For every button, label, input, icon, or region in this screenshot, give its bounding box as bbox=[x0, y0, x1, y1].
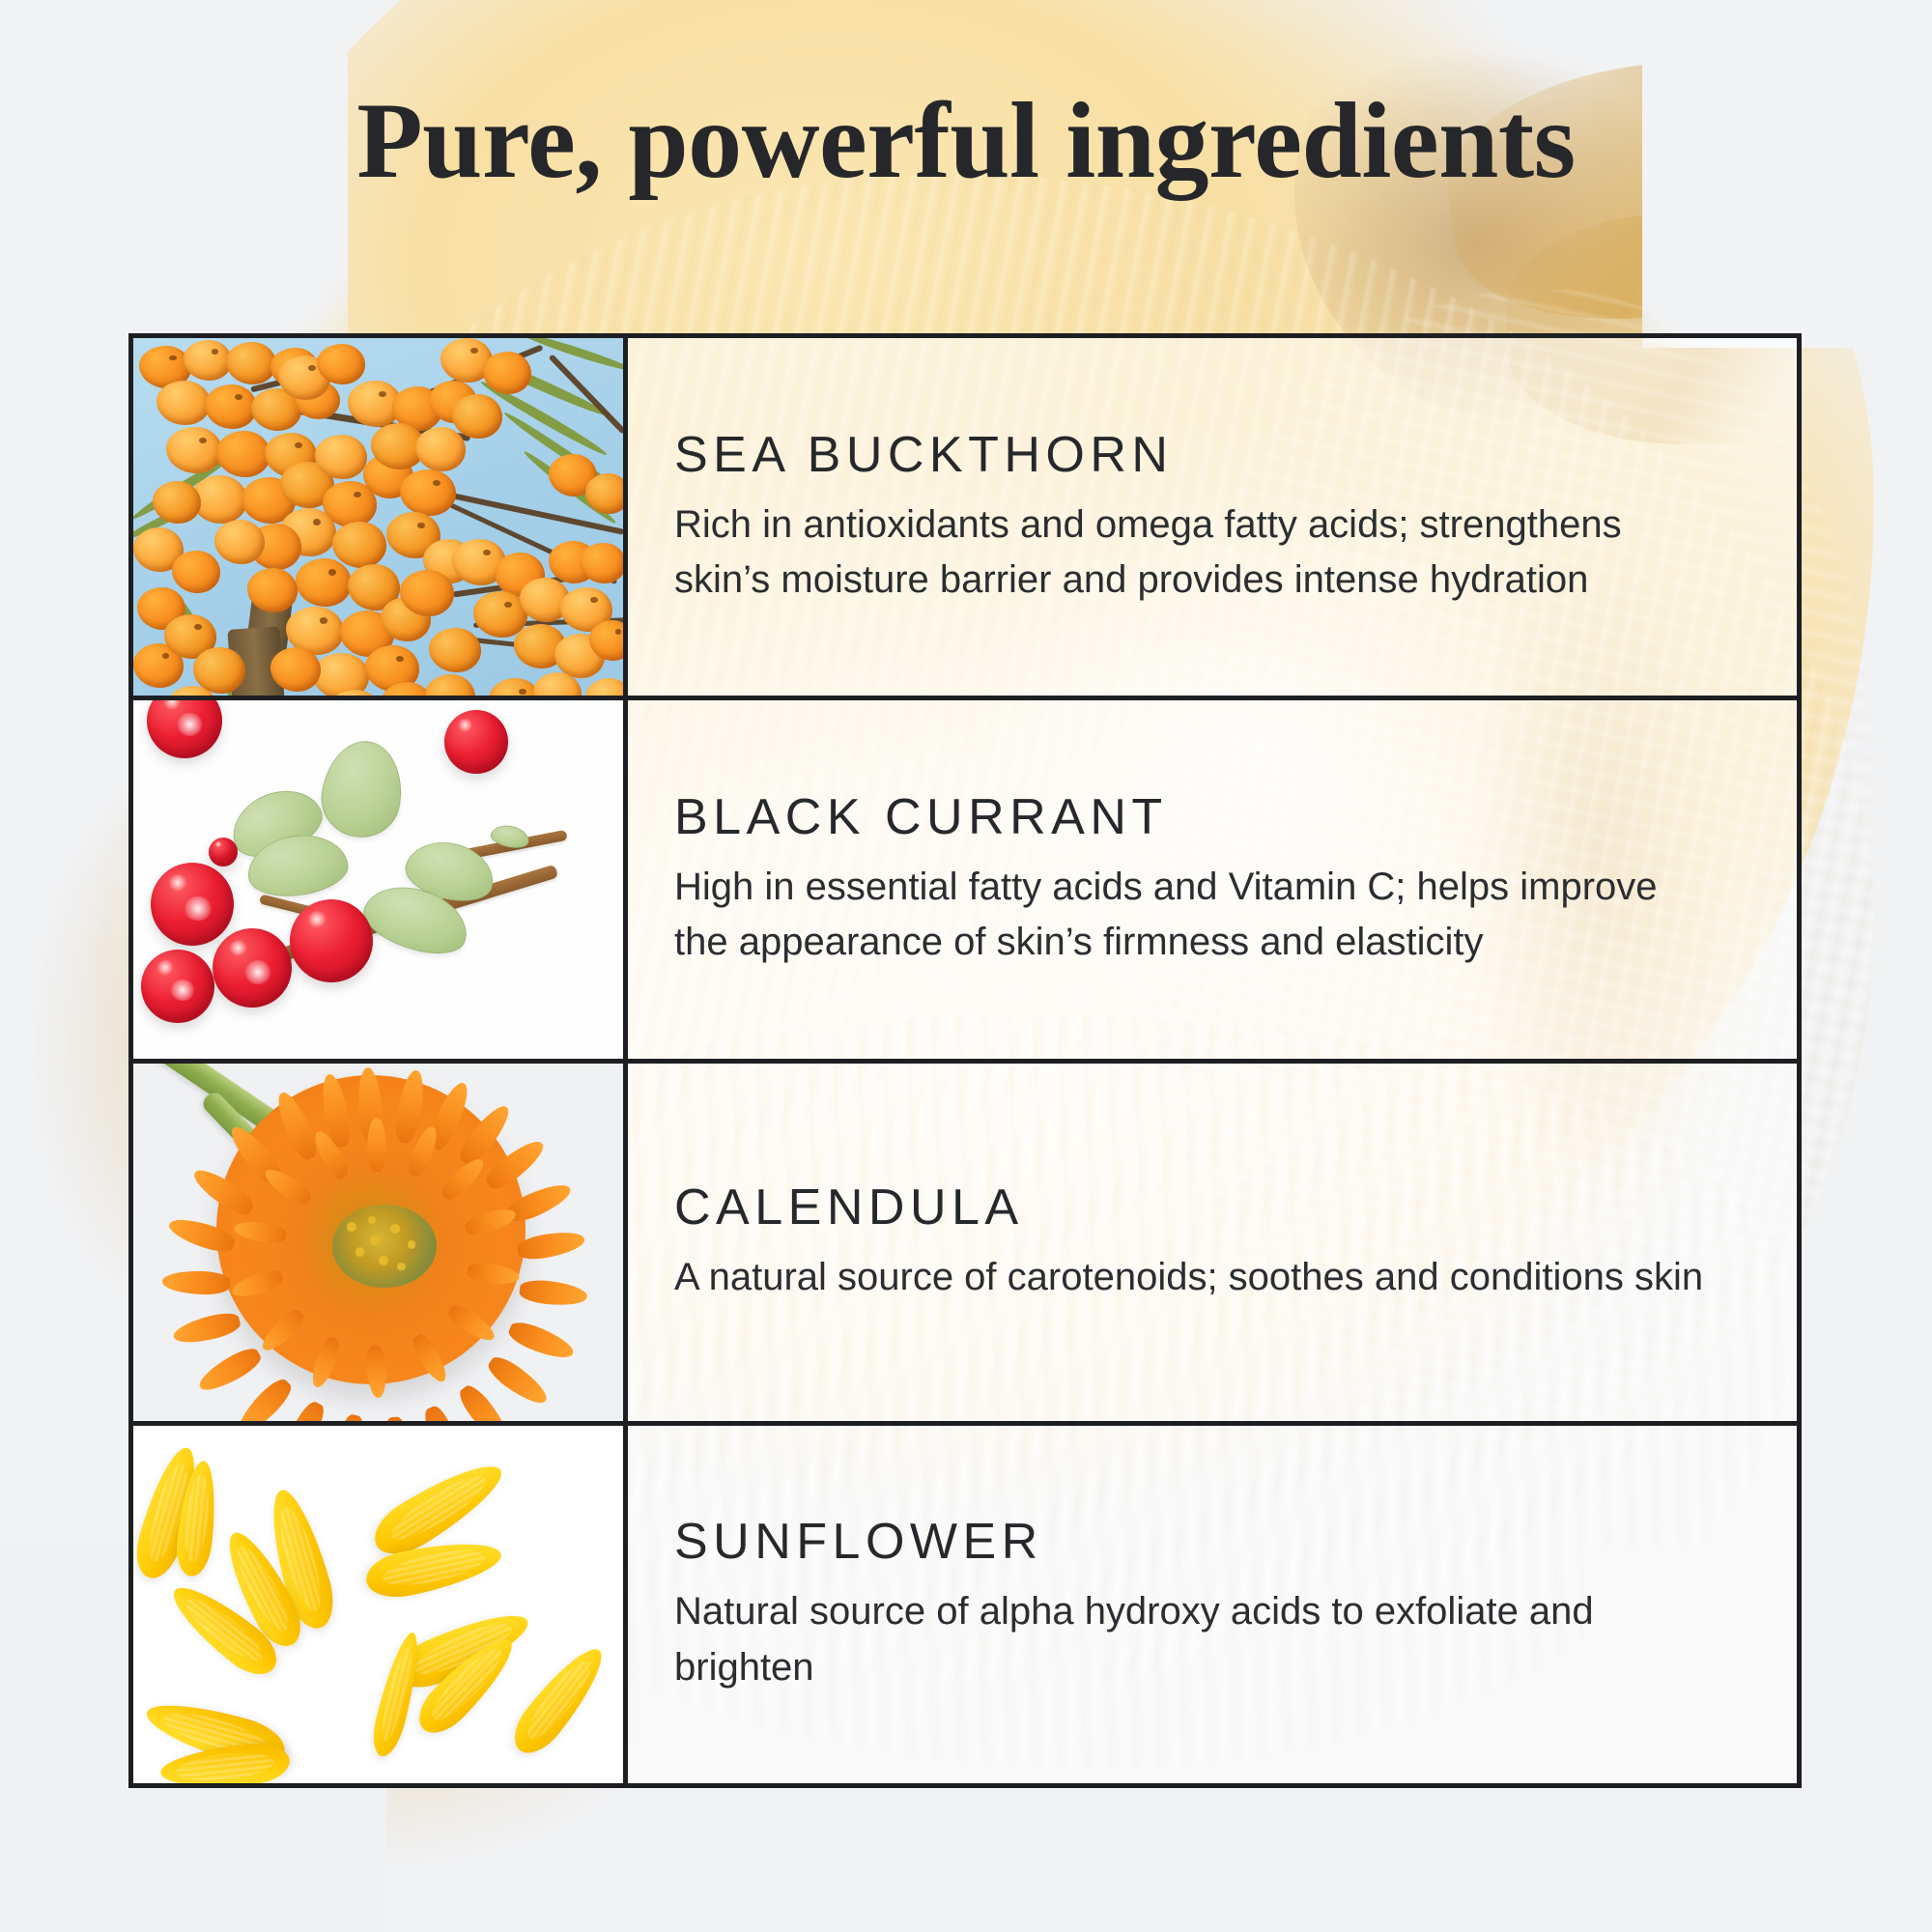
table-row: BLACK CURRANT High in essential fatty ac… bbox=[133, 700, 1797, 1063]
ingredient-description: Rich in antioxidants and omega fatty aci… bbox=[674, 497, 1713, 609]
ingredient-name: BLACK CURRANT bbox=[674, 788, 1750, 846]
black-currant-text-cell: BLACK CURRANT High in essential fatty ac… bbox=[628, 700, 1797, 1058]
ingredient-name: SUNFLOWER bbox=[674, 1513, 1750, 1571]
ingredient-description: Natural source of alpha hydroxy acids to… bbox=[674, 1584, 1713, 1695]
ingredient-name: CALENDULA bbox=[674, 1179, 1750, 1236]
ingredients-table: SEA BUCKTHORN Rich in antioxidants and o… bbox=[128, 333, 1802, 1788]
table-row: CALENDULA A natural source of carotenoid… bbox=[133, 1064, 1797, 1426]
calendula-text-cell: CALENDULA A natural source of carotenoid… bbox=[628, 1064, 1797, 1421]
ingredient-name: SEA BUCKTHORN bbox=[674, 426, 1750, 484]
ingredient-description: High in essential fatty acids and Vitami… bbox=[674, 860, 1713, 971]
sunflower-petals-image bbox=[133, 1426, 628, 1783]
calendula-image bbox=[133, 1064, 628, 1421]
sea-buckthorn-text-cell: SEA BUCKTHORN Rich in antioxidants and o… bbox=[628, 338, 1797, 696]
sunflower-text-cell: SUNFLOWER Natural source of alpha hydrox… bbox=[628, 1426, 1797, 1783]
table-row: SEA BUCKTHORN Rich in antioxidants and o… bbox=[133, 338, 1797, 700]
page-title: Pure, powerful ingredients bbox=[0, 85, 1932, 199]
table-row: SUNFLOWER Natural source of alpha hydrox… bbox=[133, 1426, 1797, 1783]
ingredient-description: A natural source of carotenoids; soothes… bbox=[674, 1250, 1713, 1306]
black-currant-image bbox=[133, 700, 628, 1058]
sea-buckthorn-image bbox=[133, 338, 628, 696]
